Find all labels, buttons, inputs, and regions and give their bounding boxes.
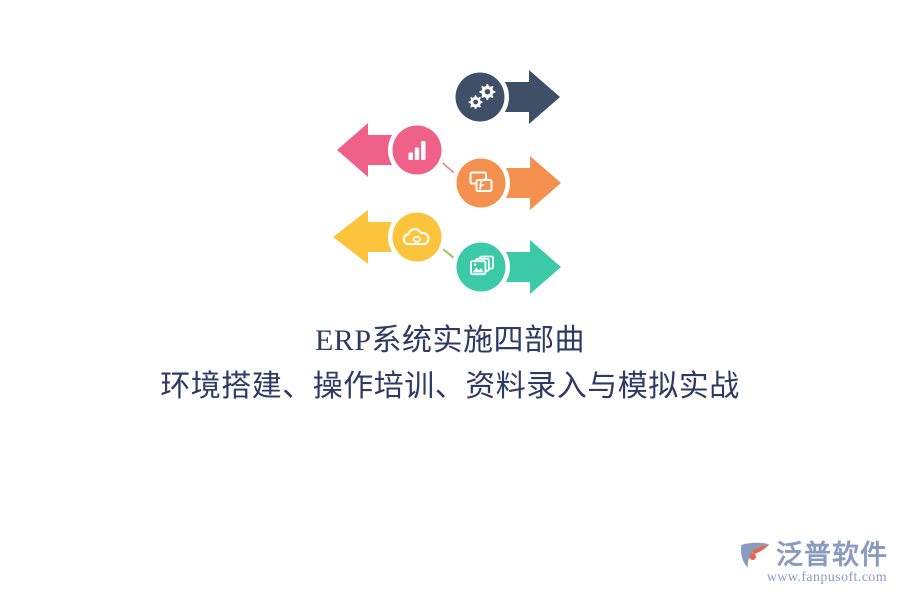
logo-website-url: www.fanpusoft.com <box>767 570 887 586</box>
logo-row: 泛普软件 <box>738 539 888 571</box>
process-step-3[interactable] <box>452 154 561 212</box>
process-step-5[interactable] <box>452 238 561 296</box>
screenshot-canvas: ERP系统实施四部曲 环境搭建、操作培训、资料录入与模拟实战 泛普软件 www.… <box>0 0 900 600</box>
page-title-line-2: 环境搭建、操作培训、资料录入与模拟实战 <box>0 364 900 410</box>
process-infographic <box>0 0 900 330</box>
process-step-1[interactable] <box>451 68 560 126</box>
process-step-4[interactable] <box>333 208 446 266</box>
brand-watermark: 泛普软件 www.fanpusoft.com <box>738 539 888 586</box>
heading-block: ERP系统实施四部曲 环境搭建、操作培训、资料录入与模拟实战 <box>0 318 900 410</box>
logo-brand-name: 泛普软件 <box>776 540 888 570</box>
fanpu-logo-icon <box>738 539 772 571</box>
process-step-2[interactable] <box>337 121 446 179</box>
page-title-line-1: ERP系统实施四部曲 <box>0 318 900 364</box>
